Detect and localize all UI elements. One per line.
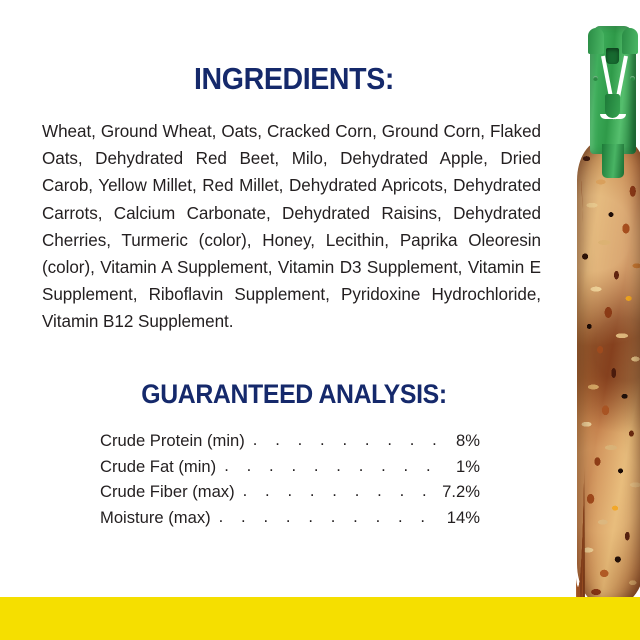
dot-leader	[253, 430, 448, 446]
bottom-yellow-band	[0, 597, 640, 640]
ingredients-list-text: Wheat, Ground Wheat, Oats, Cracked Corn,…	[42, 118, 541, 336]
table-row: Moisture (max) 14%	[100, 507, 480, 533]
analysis-value: 7.2%	[437, 482, 480, 502]
dot-leader	[219, 507, 439, 523]
analysis-label: Moisture (max)	[100, 508, 217, 528]
clip-rivet-right	[630, 76, 635, 81]
analysis-value: 14%	[442, 508, 480, 528]
clip-shoulder-right	[622, 28, 638, 54]
analysis-value: 8%	[451, 431, 480, 451]
dot-leader	[224, 456, 448, 472]
seed-treat-stick	[577, 140, 640, 606]
table-row: Crude Protein (min) 8%	[100, 430, 480, 456]
seed-stick-clip	[584, 26, 640, 166]
label-text-panel: INGREDIENTS: Wheat, Ground Wheat, Oats, …	[0, 0, 560, 640]
clip-notch	[606, 48, 619, 64]
clip-tongue	[605, 94, 620, 118]
table-row: Crude Fiber (max) 7.2%	[100, 481, 480, 507]
analysis-label: Crude Fiber (max)	[100, 482, 241, 502]
clip-shoulder-left	[588, 28, 604, 54]
guaranteed-analysis-table: Crude Protein (min) 8% Crude Fat (min) 1…	[100, 430, 480, 532]
product-photo	[560, 0, 640, 640]
analysis-value: 1%	[451, 457, 480, 477]
dot-leader	[243, 481, 435, 497]
table-row: Crude Fat (min) 1%	[100, 456, 480, 482]
guaranteed-analysis-heading: GUARANTEED ANALYSIS:	[24, 379, 565, 409]
product-label-page: INGREDIENTS: Wheat, Ground Wheat, Oats, …	[0, 0, 640, 640]
clip-rivet-left	[593, 76, 598, 81]
analysis-label: Crude Fat (min)	[100, 457, 222, 477]
clip-stem	[602, 144, 624, 178]
analysis-label: Crude Protein (min)	[100, 431, 251, 451]
ingredients-heading: INGREDIENTS:	[24, 62, 565, 96]
